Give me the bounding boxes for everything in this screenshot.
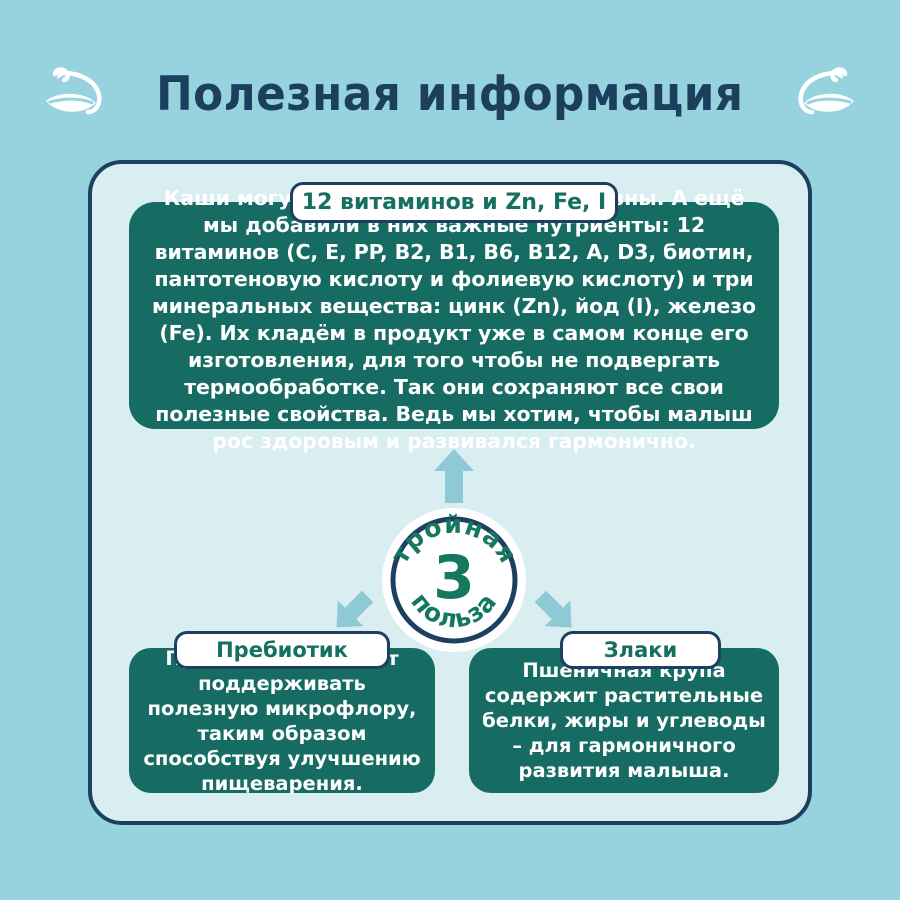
badge-vitamins: 12 витаминов и Zn, Fe, I — [290, 182, 618, 223]
leaf-flourish-right-icon — [792, 65, 860, 123]
badge-grains: Злаки — [560, 631, 721, 669]
arrow-up-icon — [432, 449, 476, 503]
card-vitamins: Каши могут быть и сами по себе полезны. … — [129, 202, 779, 429]
card-grains: Пшеничная крупа содержит растительные бе… — [469, 648, 779, 793]
card-vitamins-text: Каши могут быть и сами по себе полезны. … — [149, 185, 759, 455]
badge-prebiotic: Пребиотик — [174, 631, 390, 669]
page-title: Полезная информация — [156, 71, 743, 118]
arrow-down-left-icon — [326, 588, 378, 636]
badge-grains-label: Злаки — [604, 638, 677, 662]
info-panel: 12 витаминов и Zn, Fe, I Каши могут быть… — [88, 160, 812, 825]
page-header: Полезная информация — [0, 52, 900, 136]
triple-benefit-seal: тройная польза 3 — [380, 506, 528, 654]
badge-vitamins-label: 12 витаминов и Zn, Fe, I — [302, 190, 606, 215]
card-prebiotic: Пребиотик помогает поддерживать полезную… — [129, 648, 435, 793]
card-grains-text: Пшеничная крупа содержит растительные бе… — [481, 658, 767, 783]
leaf-flourish-left-icon — [40, 65, 108, 123]
svg-text:3: 3 — [433, 543, 475, 613]
badge-prebiotic-label: Пребиотик — [216, 638, 348, 662]
arrow-down-right-icon — [530, 588, 582, 636]
